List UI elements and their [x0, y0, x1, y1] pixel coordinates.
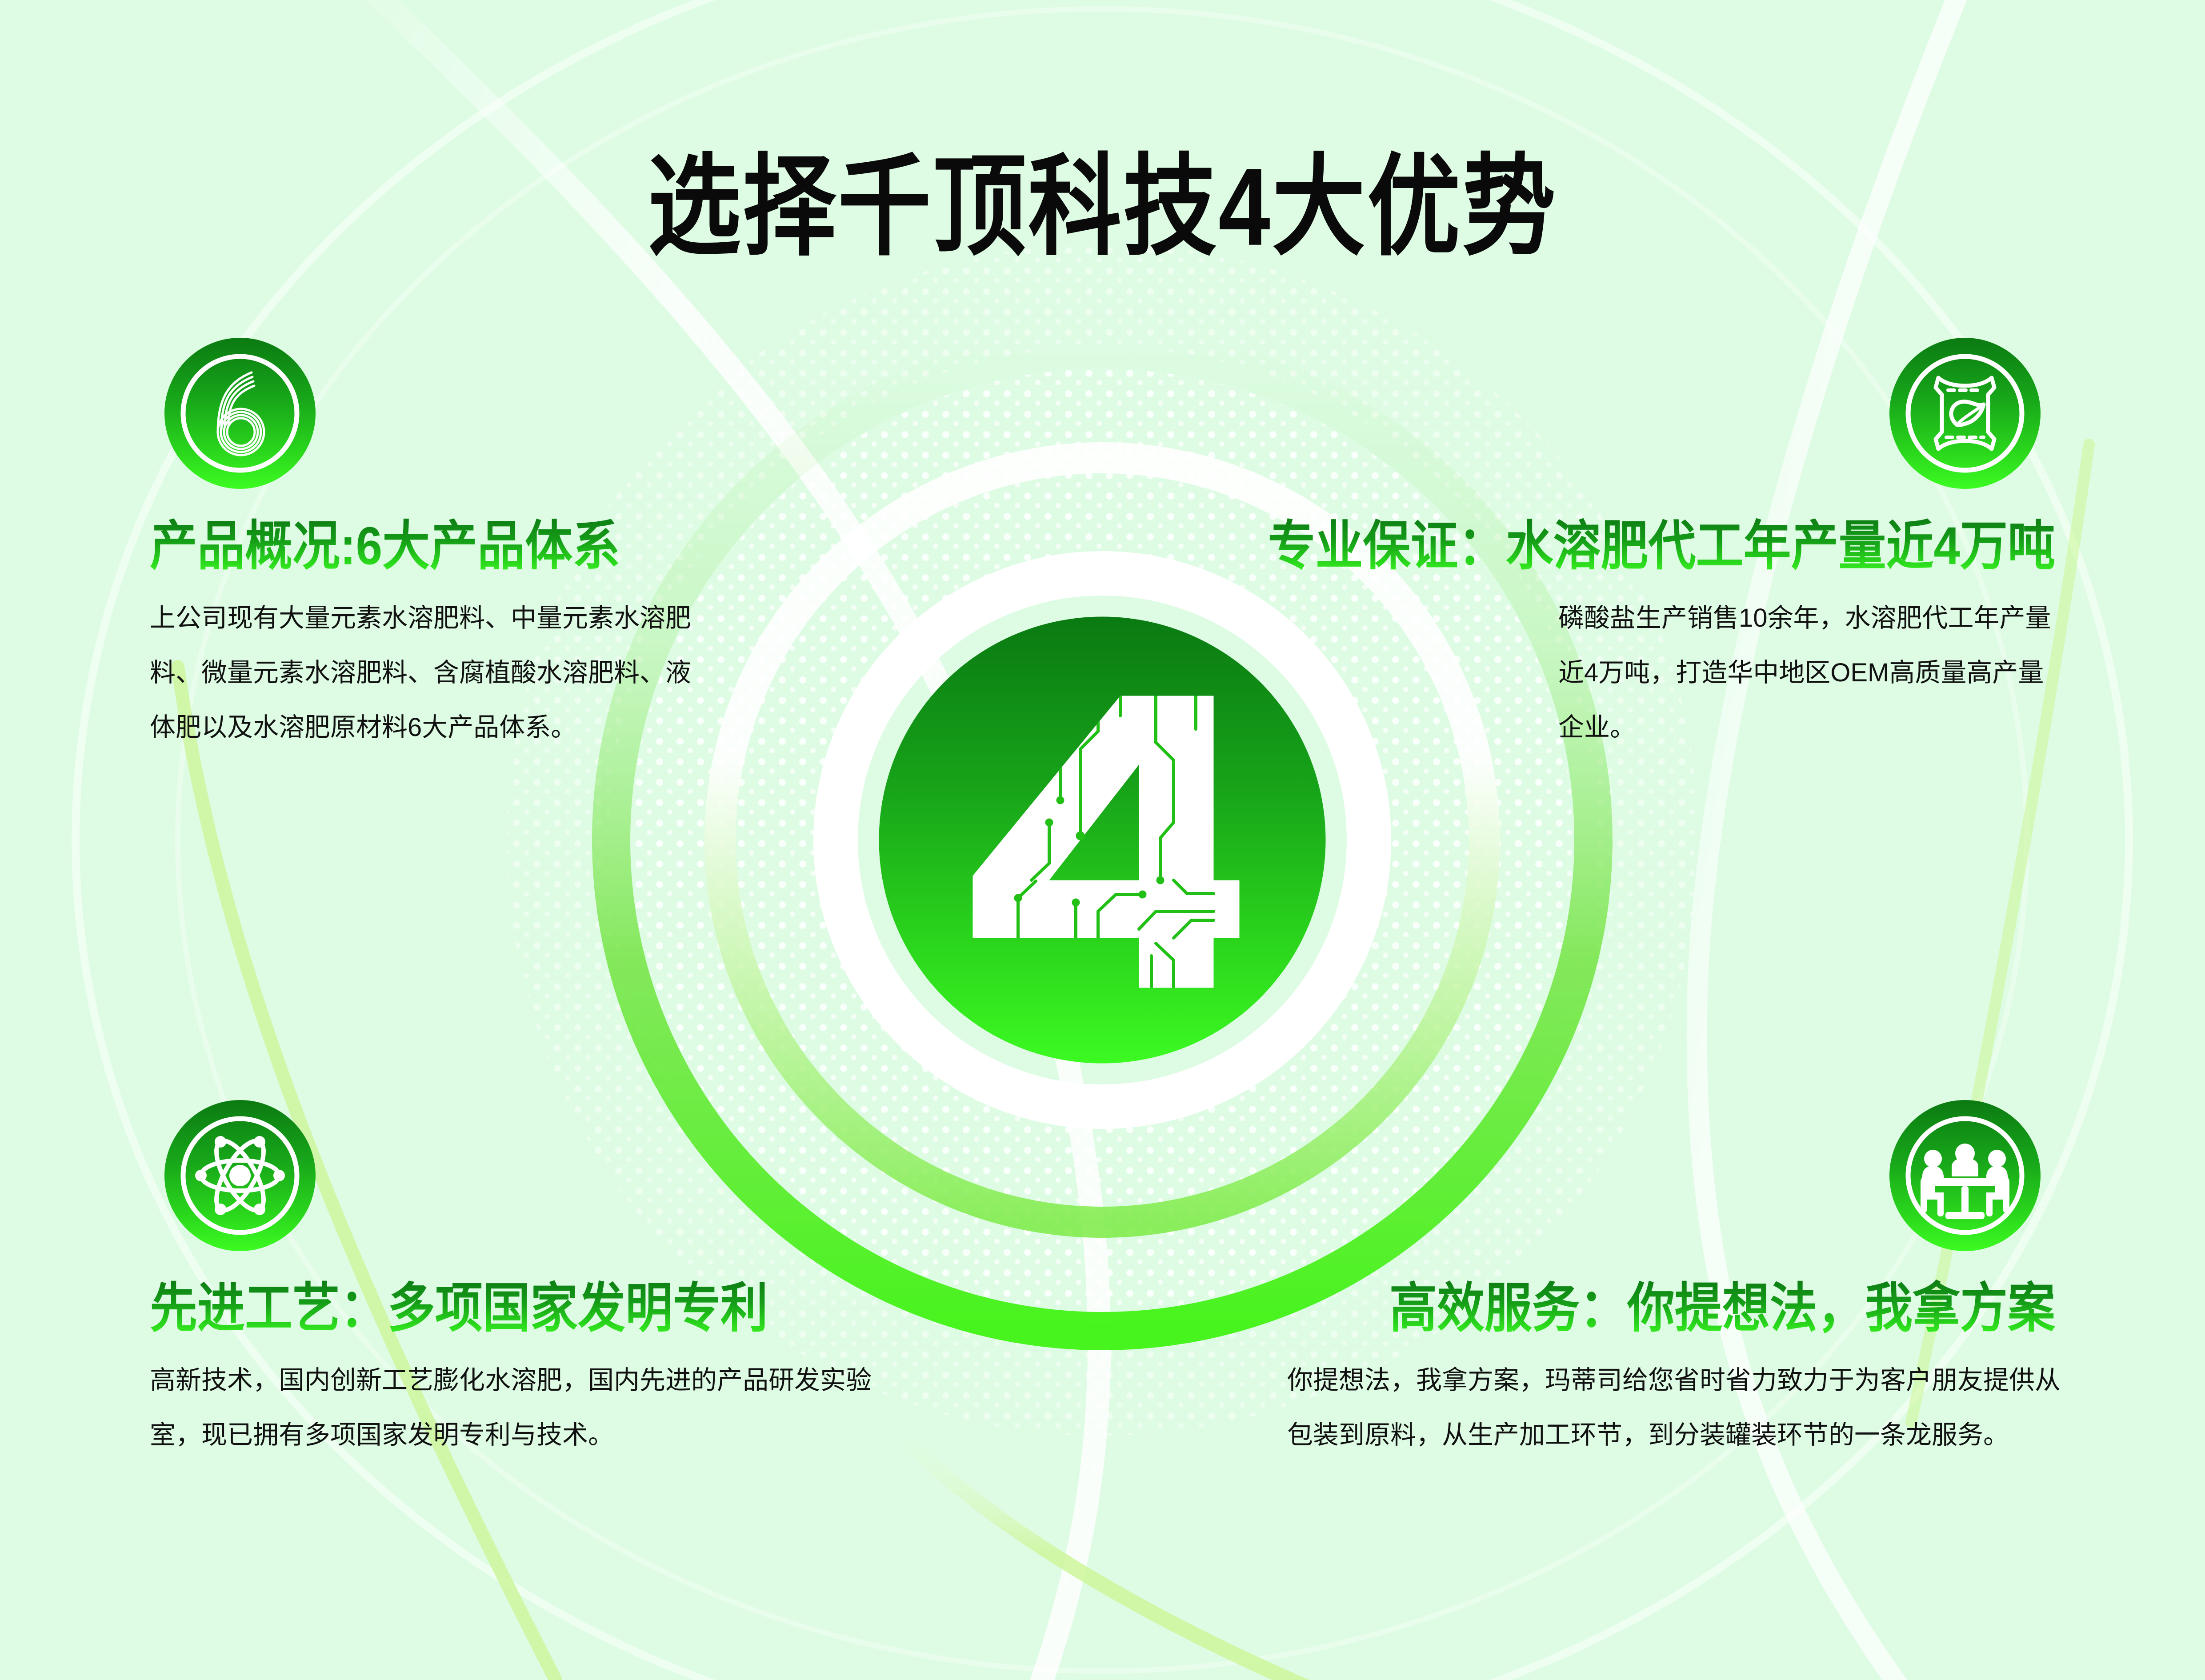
- advantage-body: 你提想法，我拿方案，玛蒂司给您省时省力致力于为客户朋友提供从包装到原料，从生产加…: [1287, 1353, 2061, 1463]
- advantage-body: 上公司现有大量元素水溶肥料、中量元素水溶肥料、微量元素水溶肥料、含腐植酸水溶肥料…: [150, 591, 703, 755]
- advantage-heading: 先进工艺：多项国家发明专利: [150, 1279, 927, 1338]
- advantage-heading: 专业保证：水溶肥代工年产量近4万吨: [1268, 516, 2055, 576]
- atom-icon: [164, 1100, 316, 1251]
- advantage-block-bottom-left: 先进工艺：多项国家发明专利 高新技术，国内创新工艺膨化水溶肥，国内先进的产品研发…: [144, 1100, 927, 1463]
- page-title: 选择千顶科技4大优势: [0, 149, 2205, 265]
- advantage-body: 高新技术，国内创新工艺膨化水溶肥，国内先进的产品研发实验室，现已拥有多项国家发明…: [150, 1353, 896, 1463]
- number-six-rings-icon: [164, 338, 316, 489]
- advantage-heading: 高效服务：你提想法，我拿方案: [1389, 1279, 2055, 1338]
- fertilizer-bag-icon: [1889, 338, 2041, 489]
- advantage-heading: 产品概况:6大产品体系: [150, 516, 740, 576]
- advantage-block-top-left: 产品概况:6大产品体系 上公司现有大量元素水溶肥料、中量元素水溶肥料、微量元素水…: [144, 338, 740, 755]
- meeting-table-icon: [1889, 1100, 2041, 1251]
- advantage-body: 磷酸盐生产销售10余年，水溶肥代工年产量近4万吨，打造华中地区OEM高质量高产量…: [1558, 591, 2061, 755]
- advantage-block-bottom-right: 高效服务：你提想法，我拿方案 你提想法，我拿方案，玛蒂司给您省时省力致力于为客户…: [1261, 1100, 2061, 1463]
- advantage-block-top-right: 专业保证：水溶肥代工年产量近4万吨 磷酸盐生产销售10余年，水溶肥代工年产量近4…: [1136, 338, 2061, 755]
